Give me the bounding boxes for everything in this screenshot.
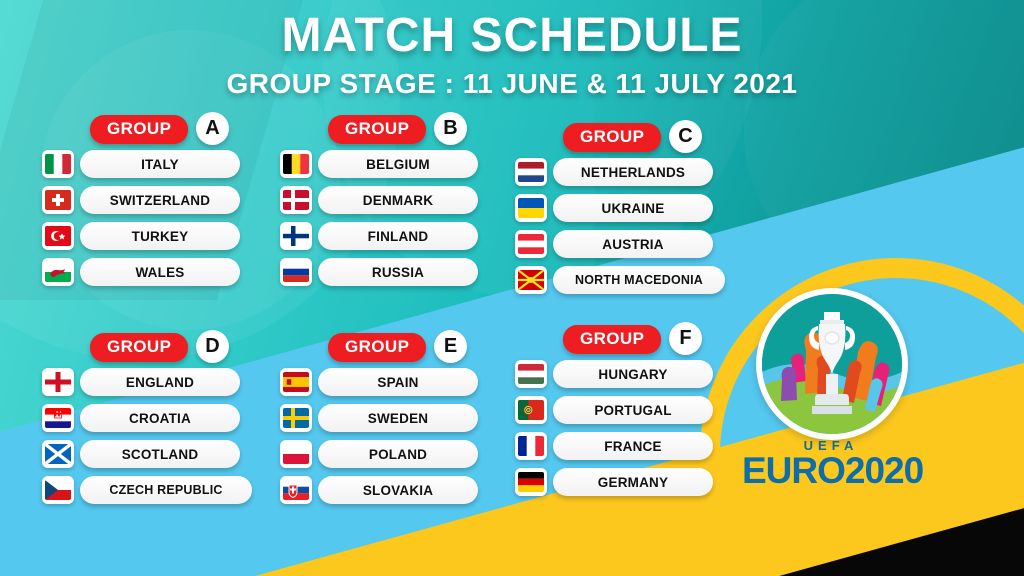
team-name-pill[interactable]: NORTH MACEDONIA	[553, 266, 725, 294]
group-letter-e: E	[434, 330, 467, 363]
group-badge: GROUP	[328, 333, 426, 362]
sweden-flag	[280, 404, 312, 432]
team-row[interactable]: FRANCE	[515, 432, 713, 460]
uefa-euro-2020-logo: UEFA EURO2020	[742, 288, 920, 498]
team-row[interactable]: DENMARK	[280, 186, 478, 214]
netherlands-flag	[515, 158, 547, 186]
group-badge: GROUP	[328, 115, 426, 144]
slovakia-flag	[280, 476, 312, 504]
team-row[interactable]: CROATIA	[42, 404, 252, 432]
group-letter-a: A	[196, 112, 229, 145]
group-block-b: GROUPBBELGIUMDENMARKFINLANDRUSSIA	[280, 115, 478, 294]
group-header: GROUPA	[42, 115, 240, 145]
page-subtitle: GROUP STAGE : 11 JUNE & 11 JULY 2021	[0, 68, 1024, 100]
italy-flag	[42, 150, 74, 178]
team-name-pill[interactable]: POLAND	[318, 440, 478, 468]
group-badge: GROUP	[90, 333, 188, 362]
team-name-pill[interactable]: SCOTLAND	[80, 440, 240, 468]
team-name-pill[interactable]: CROATIA	[80, 404, 240, 432]
team-row[interactable]: NORTH MACEDONIA	[515, 266, 725, 294]
team-row[interactable]: HUNGARY	[515, 360, 713, 388]
team-row[interactable]: BELGIUM	[280, 150, 478, 178]
team-name-pill[interactable]: NETHERLANDS	[553, 158, 713, 186]
team-name-pill[interactable]: SWITZERLAND	[80, 186, 240, 214]
team-row[interactable]: NETHERLANDS	[515, 158, 725, 186]
team-row[interactable]: ENGLAND	[42, 368, 252, 396]
group-header: GROUPC	[515, 123, 725, 153]
logo-badge	[756, 288, 908, 440]
austria-flag	[515, 230, 547, 258]
team-name-pill[interactable]: ENGLAND	[80, 368, 240, 396]
team-name-pill[interactable]: PORTUGAL	[553, 396, 713, 424]
team-row[interactable]: CZECH REPUBLIC	[42, 476, 252, 504]
turkey-flag	[42, 222, 74, 250]
logo-artwork	[762, 294, 902, 434]
germany-flag	[515, 468, 547, 496]
group-letter-d: D	[196, 330, 229, 363]
team-name-pill[interactable]: DENMARK	[318, 186, 478, 214]
team-name-pill[interactable]: WALES	[80, 258, 240, 286]
group-letter-c: C	[669, 120, 702, 153]
switzerland-flag	[42, 186, 74, 214]
group-header: GROUPF	[515, 325, 713, 355]
group-block-e: GROUPESPAINSWEDENPOLANDSLOVAKIA	[280, 333, 478, 512]
page-title: MATCH SCHEDULE	[0, 8, 1024, 63]
team-row[interactable]: RUSSIA	[280, 258, 478, 286]
ukraine-flag	[515, 194, 547, 222]
team-name-pill[interactable]: BELGIUM	[318, 150, 478, 178]
france-flag	[515, 432, 547, 460]
team-name-pill[interactable]: RUSSIA	[318, 258, 478, 286]
team-row[interactable]: SPAIN	[280, 368, 478, 396]
team-name-pill[interactable]: TURKEY	[80, 222, 240, 250]
team-row[interactable]: AUSTRIA	[515, 230, 725, 258]
group-badge: GROUP	[90, 115, 188, 144]
team-row[interactable]: POLAND	[280, 440, 478, 468]
team-name-pill[interactable]: SWEDEN	[318, 404, 478, 432]
group-header: GROUPE	[280, 333, 478, 363]
team-name-pill[interactable]: AUSTRIA	[553, 230, 713, 258]
poster-canvas: MATCH SCHEDULE GROUP STAGE : 11 JUNE & 1…	[0, 0, 1024, 576]
team-name-pill[interactable]: SPAIN	[318, 368, 478, 396]
wales-flag	[42, 258, 74, 286]
team-name-pill[interactable]: FINLAND	[318, 222, 478, 250]
team-name-pill[interactable]: FRANCE	[553, 432, 713, 460]
finland-flag	[280, 222, 312, 250]
team-row[interactable]: PORTUGAL	[515, 396, 713, 424]
group-badge: GROUP	[563, 325, 661, 354]
logo-euro-text: EURO2020	[742, 450, 920, 492]
team-row[interactable]: TURKEY	[42, 222, 240, 250]
team-row[interactable]: SCOTLAND	[42, 440, 252, 468]
group-letter-b: B	[434, 112, 467, 145]
czech-republic-flag	[42, 476, 74, 504]
england-flag	[42, 368, 74, 396]
russia-flag	[280, 258, 312, 286]
team-row[interactable]: FINLAND	[280, 222, 478, 250]
hungary-flag	[515, 360, 547, 388]
belgium-flag	[280, 150, 312, 178]
denmark-flag	[280, 186, 312, 214]
group-block-a: GROUPAITALYSWITZERLANDTURKEYWALES	[42, 115, 240, 294]
group-letter-f: F	[669, 322, 702, 355]
team-name-pill[interactable]: GERMANY	[553, 468, 713, 496]
group-block-f: GROUPFHUNGARYPORTUGALFRANCEGERMANY	[515, 325, 713, 504]
group-block-c: GROUPCNETHERLANDSUKRAINEAUSTRIANORTH MAC…	[515, 123, 725, 302]
team-name-pill[interactable]: HUNGARY	[553, 360, 713, 388]
croatia-flag	[42, 404, 74, 432]
group-header: GROUPD	[42, 333, 252, 363]
team-row[interactable]: SLOVAKIA	[280, 476, 478, 504]
team-row[interactable]: UKRAINE	[515, 194, 725, 222]
poland-flag	[280, 440, 312, 468]
group-block-d: GROUPDENGLANDCROATIASCOTLANDCZECH REPUBL…	[42, 333, 252, 512]
spain-flag	[280, 368, 312, 396]
group-header: GROUPB	[280, 115, 478, 145]
team-name-pill[interactable]: CZECH REPUBLIC	[80, 476, 252, 504]
group-badge: GROUP	[563, 123, 661, 152]
portugal-flag	[515, 396, 547, 424]
team-row[interactable]: SWITZERLAND	[42, 186, 240, 214]
scotland-flag	[42, 440, 74, 468]
team-name-pill[interactable]: UKRAINE	[553, 194, 713, 222]
team-name-pill[interactable]: ITALY	[80, 150, 240, 178]
team-name-pill[interactable]: SLOVAKIA	[318, 476, 478, 504]
trophy-and-fans-icon	[762, 294, 902, 434]
team-row[interactable]: ITALY	[42, 150, 240, 178]
team-row[interactable]: SWEDEN	[280, 404, 478, 432]
team-row[interactable]: GERMANY	[515, 468, 713, 496]
team-row[interactable]: WALES	[42, 258, 240, 286]
north-macedonia-flag	[515, 266, 547, 294]
